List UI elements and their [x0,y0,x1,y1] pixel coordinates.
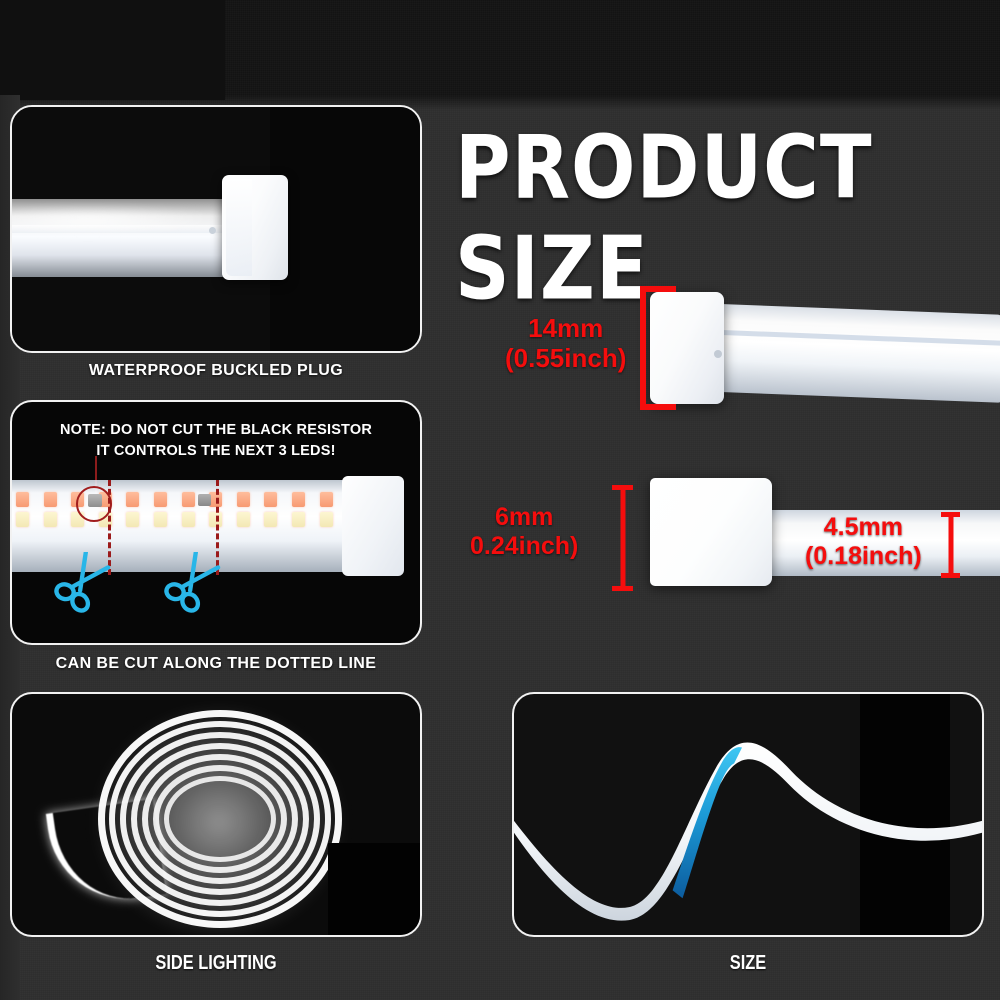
led-chip [154,492,167,507]
end-cap-face [226,179,252,276]
caption-cut-line: CAN BE CUT ALONG THE DOTTED LINE [10,655,422,673]
caption-side-lighting: SIDE LIGHTING [47,952,385,975]
led-chip [264,492,277,507]
waterproof-plug-photo [12,107,420,351]
background-top-panel [0,0,225,100]
end-cap-notch [209,227,216,234]
side-lighting-photo [12,694,420,935]
measurement-bar-strip-thickness [941,512,960,578]
panel-cut-line: NOTE: DO NOT CUT THE BLACK RESISTOR IT C… [10,400,422,645]
measure-cap-bottom [612,586,633,591]
dimension-metric: 14mm [505,313,626,343]
coil-loose-end [46,799,166,909]
led-chip [126,512,139,527]
measure-bar [620,485,625,591]
led-chip [182,492,195,507]
panel-waterproof-plug [10,105,422,353]
end-cap-notch [714,350,722,358]
dimension-label-height: 14mm (0.55inch) [505,313,626,373]
led-chip [237,512,250,527]
note-line-2: IT CONTROLS THE NEXT 3 LEDS! [12,441,420,462]
led-chip [292,512,305,527]
led-strip-end-cap [342,476,404,576]
led-chip [44,512,57,527]
led-chip [320,512,333,527]
led-row-top [16,492,347,507]
caption-waterproof-plug: WATERPROOF BUCKLED PLUG [10,362,422,380]
resistor-highlight-circle [76,486,112,522]
led-chip [237,492,250,507]
dimension-imperial: (0.55inch) [505,343,626,373]
led-chip [44,492,57,507]
measure-bar [948,512,953,578]
cut-line-photo: NOTE: DO NOT CUT THE BLACK RESISTOR IT C… [12,402,420,643]
measure-cap-top [612,485,633,490]
end-cap-side [650,478,772,586]
photo-backdrop-right [270,107,422,351]
dimension-imperial: 0.24inch) [470,532,578,561]
led-row-bottom [16,512,347,527]
led-chip [126,492,139,507]
led-chip [154,512,167,527]
measure-cap-bottom [941,573,960,578]
led-chip [264,512,277,527]
dimension-label-cap-thickness: 6mm 0.24inch) [470,503,578,561]
black-resistor [198,494,211,506]
measurement-bracket-height [640,286,676,410]
cut-warning-note: NOTE: DO NOT CUT THE BLACK RESISTOR IT C… [12,420,420,462]
strip-body-angled [720,304,1000,403]
led-chip [16,492,29,507]
panel-side-lighting [10,692,422,937]
page-title: PRODUCT SIZE [455,118,1000,320]
product-photo-height [650,292,1000,404]
coil-loop [164,776,276,862]
measurement-bar-cap-thickness [612,485,633,591]
strip-outer-edge [514,743,982,921]
flexible-strip-illustration [514,694,982,937]
dimension-imperial: (0.18inch) [805,542,922,571]
measure-cap-top [941,512,960,517]
led-chip [320,492,333,507]
note-line-1: NOTE: DO NOT CUT THE BLACK RESISTOR [60,422,372,438]
blue-protective-film [673,747,742,898]
dimension-metric: 4.5mm [805,513,922,542]
led-chip [292,492,305,507]
dimension-metric: 6mm [470,503,578,532]
caption-size: SIZE [554,952,941,975]
led-chip [16,512,29,527]
photo-dark-corner [328,843,420,935]
silicone-strip-highlight [10,205,217,235]
led-chip [182,512,195,527]
size-photo [514,694,982,935]
dimension-label-strip-thickness: 4.5mm (0.18inch) [805,513,922,571]
panel-size [512,692,984,937]
scissors-icon [162,552,224,614]
scissors-icon [52,552,114,614]
